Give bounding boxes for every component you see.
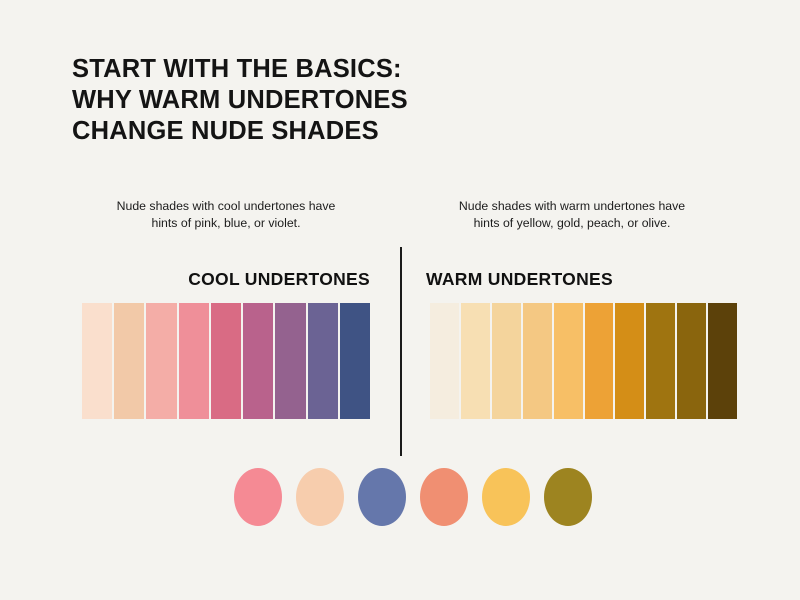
warm-accent-ovals [420, 468, 592, 526]
page-title: START WITH THE BASICS: WHY WARM UNDERTON… [72, 54, 492, 147]
title-line-2: WHY WARM UNDERTONES [72, 85, 492, 116]
cool-swatch-3 [146, 303, 176, 419]
warm-undertones-column: Nude shades with warm undertones have hi… [412, 198, 732, 290]
warm-swatch-4 [523, 303, 552, 419]
cool-swatch-2 [114, 303, 144, 419]
cool-swatch-7 [275, 303, 305, 419]
warm-caption-line-1: Nude shades with warm undertones have [412, 198, 732, 215]
cool-oval-peach [296, 468, 344, 526]
warm-oval-gold [482, 468, 530, 526]
cool-swatch-9 [340, 303, 370, 419]
cool-oval-pink [234, 468, 282, 526]
cool-oval-violet [358, 468, 406, 526]
cool-swatch-6 [243, 303, 273, 419]
warm-oval-olive [544, 468, 592, 526]
title-line-3: CHANGE NUDE SHADES [72, 116, 492, 147]
warm-swatch-10 [708, 303, 737, 419]
cool-swatch-1 [82, 303, 112, 419]
cool-swatch-4 [179, 303, 209, 419]
cool-caption-line-2: hints of pink, blue, or violet. [66, 215, 386, 232]
cool-undertones-column: Nude shades with cool undertones have hi… [66, 198, 386, 290]
warm-caption-line-2: hints of yellow, gold, peach, or olive. [412, 215, 732, 232]
warm-swatch-2 [461, 303, 490, 419]
infographic-canvas: START WITH THE BASICS: WHY WARM UNDERTON… [0, 0, 800, 600]
cool-swatch-8 [308, 303, 338, 419]
cool-caption-line-1: Nude shades with cool undertones have [66, 198, 386, 215]
warm-section-heading: WARM UNDERTONES [412, 269, 732, 290]
warm-caption: Nude shades with warm undertones have hi… [412, 198, 732, 232]
cool-accent-ovals [234, 468, 406, 526]
warm-swatch-strip [430, 303, 737, 419]
warm-oval-peach [420, 468, 468, 526]
warm-swatch-6 [585, 303, 614, 419]
cool-caption: Nude shades with cool undertones have hi… [66, 198, 386, 232]
cool-swatch-strip [82, 303, 370, 419]
cool-swatch-5 [211, 303, 241, 419]
warm-swatch-8 [646, 303, 675, 419]
warm-swatch-9 [677, 303, 706, 419]
warm-swatch-5 [554, 303, 583, 419]
cool-section-heading: COOL UNDERTONES [66, 269, 386, 290]
warm-swatch-1 [430, 303, 459, 419]
warm-swatch-7 [615, 303, 644, 419]
title-line-1: START WITH THE BASICS: [72, 54, 492, 85]
warm-swatch-3 [492, 303, 521, 419]
section-divider [400, 247, 402, 456]
